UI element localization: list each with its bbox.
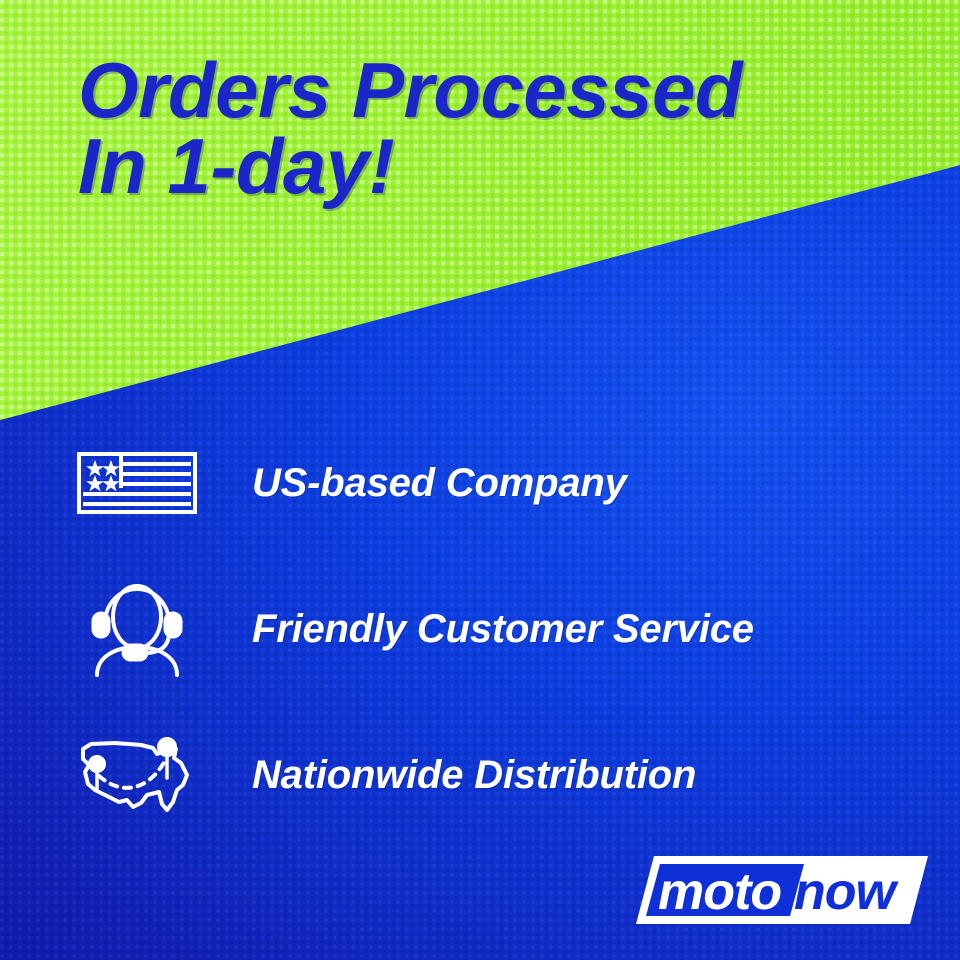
motonow-logo[interactable]: moto now [636, 852, 928, 928]
us-flag-icon [72, 452, 202, 514]
usa-map-route-icon [72, 732, 202, 818]
feature-list: US-based Company [72, 440, 912, 878]
feature-label: Friendly Customer Service [252, 607, 754, 652]
feature-label: US-based Company [252, 461, 627, 506]
feature-row: Friendly Customer Service [72, 586, 912, 672]
logo-now-text: now [794, 863, 900, 921]
promo-banner: Orders Processed In 1-day! [0, 0, 960, 960]
logo-moto-text: moto [658, 863, 781, 921]
feature-row: US-based Company [72, 440, 912, 526]
headline: Orders Processed In 1-day! [78, 52, 918, 205]
feature-row: Nationwide Distribution [72, 732, 912, 818]
headset-support-icon [72, 581, 202, 677]
feature-label: Nationwide Distribution [252, 753, 696, 798]
